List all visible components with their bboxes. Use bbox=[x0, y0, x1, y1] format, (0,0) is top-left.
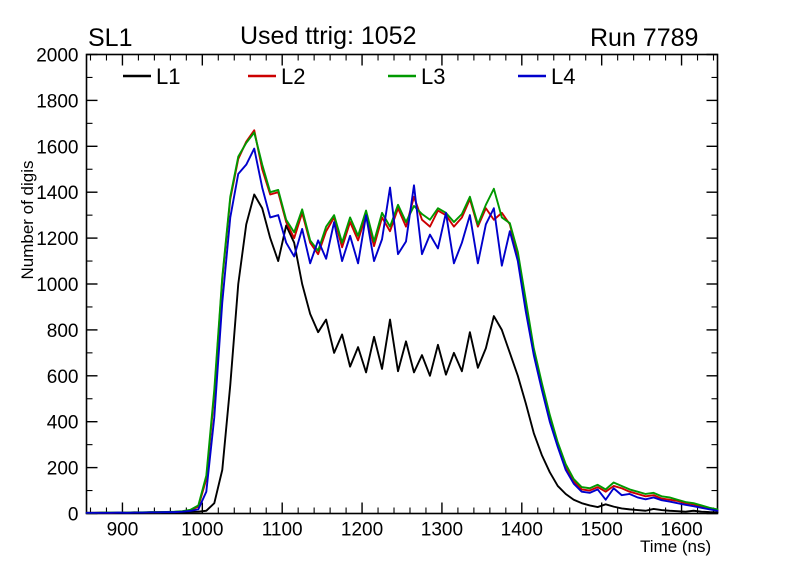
x-tick-label: 1100 bbox=[262, 520, 303, 541]
legend-label-l4: L4 bbox=[551, 64, 575, 89]
y-tick-label: 1200 bbox=[36, 229, 78, 250]
series-line-l4 bbox=[87, 149, 718, 513]
y-axis-ticks bbox=[87, 55, 718, 514]
legend-label-l1: L1 bbox=[156, 64, 180, 89]
y-tick-label: 400 bbox=[47, 413, 79, 434]
y-tick-label: 1800 bbox=[36, 91, 78, 112]
x-tick-labels: 9001000110012001300140015001600 bbox=[107, 520, 703, 541]
plot-canvas: SL1 Used ttrig: 1052 Run 7789 Number of … bbox=[0, 0, 796, 572]
y-tick-label: 2000 bbox=[36, 46, 78, 67]
x-tick-label: 1500 bbox=[581, 520, 623, 541]
legend: L1L2L3L4 bbox=[123, 64, 575, 89]
x-axis-ticks bbox=[90, 55, 713, 514]
x-tick-label: 1300 bbox=[421, 520, 463, 541]
x-tick-label: 1000 bbox=[181, 520, 223, 541]
x-tick-label: 1600 bbox=[660, 520, 702, 541]
legend-label-l3: L3 bbox=[421, 64, 445, 89]
data-series-group bbox=[87, 130, 718, 513]
series-line-l3 bbox=[87, 133, 718, 513]
y-tick-label: 1600 bbox=[36, 137, 78, 158]
y-tick-label: 1400 bbox=[36, 183, 78, 204]
series-line-l1 bbox=[87, 195, 718, 514]
chart-svg: 0200400600800100012001400160018002000 90… bbox=[0, 0, 796, 572]
y-tick-label: 0 bbox=[68, 505, 79, 526]
y-tick-label: 600 bbox=[47, 367, 79, 388]
y-tick-labels: 0200400600800100012001400160018002000 bbox=[36, 46, 78, 526]
series-line-l2 bbox=[87, 130, 718, 513]
y-tick-label: 1000 bbox=[36, 275, 78, 296]
x-tick-label: 900 bbox=[107, 520, 139, 541]
plot-frame bbox=[87, 55, 718, 514]
y-tick-label: 800 bbox=[47, 321, 79, 342]
y-tick-label: 200 bbox=[47, 459, 79, 480]
legend-label-l2: L2 bbox=[281, 64, 305, 89]
x-tick-label: 1200 bbox=[341, 520, 383, 541]
x-tick-label: 1400 bbox=[501, 520, 543, 541]
